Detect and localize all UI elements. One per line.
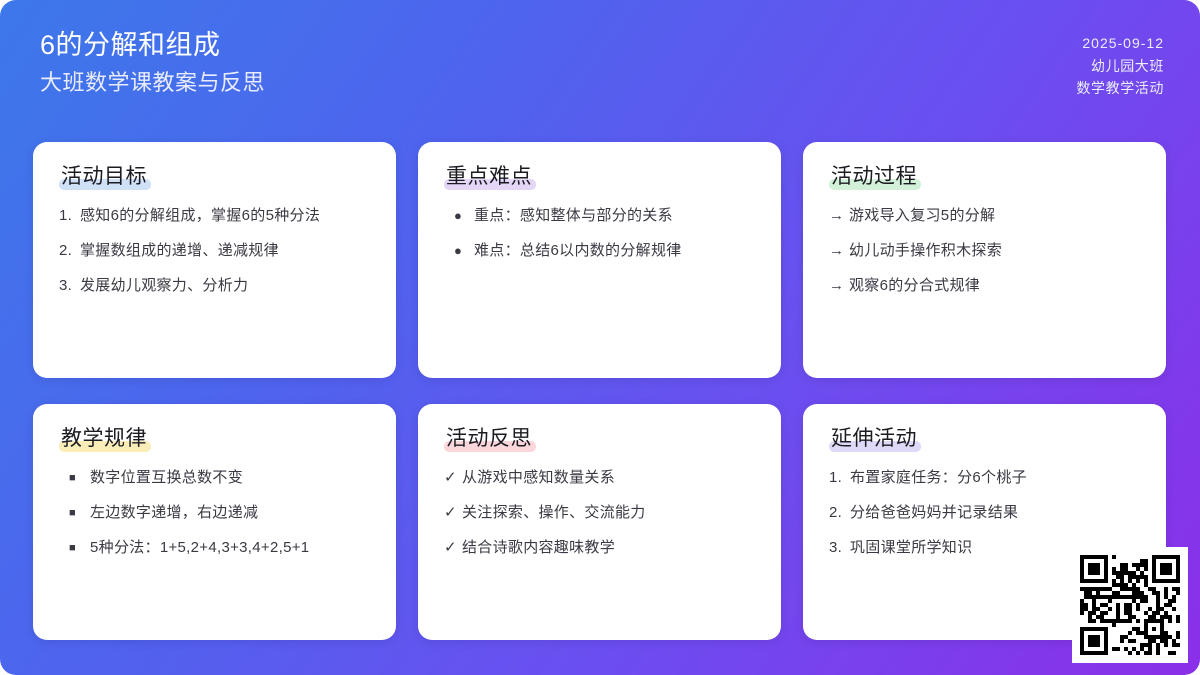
list-item: 2.掌握数组成的递增、递减规律 — [59, 240, 370, 262]
meta-date: 2025-09-12 — [1076, 32, 1164, 55]
list-marker-icon: → — [829, 240, 849, 262]
card-title-text: 延伸活动 — [831, 427, 917, 450]
list-marker-icon: ✓ — [444, 502, 462, 524]
page-title: 6的分解和组成 — [40, 28, 265, 63]
card-title: 活动过程 — [829, 164, 921, 191]
qr-code-image — [1072, 547, 1188, 663]
card-list: →游戏导入复习5的分解→幼儿动手操作积木探索→观察6的分合式规律 — [829, 205, 1140, 296]
list-marker-icon: → — [829, 205, 849, 227]
list-item-text: 分给爸爸妈妈并记录结果 — [850, 502, 1140, 524]
card-title-text: 活动反思 — [446, 427, 532, 450]
header-title-block: 6的分解和组成 大班数学课教案与反思 — [40, 28, 265, 97]
list-item-text: 布置家庭任务：分6个桃子 — [850, 467, 1140, 489]
list-item-text: 关注探索、操作、交流能力 — [462, 502, 755, 524]
card-5: 活动反思✓从游戏中感知数量关系✓关注探索、操作、交流能力✓结合诗歌内容趣味教学 — [418, 404, 781, 640]
list-item-text: 幼儿动手操作积木探索 — [849, 240, 1140, 262]
list-item-text: 从游戏中感知数量关系 — [462, 467, 755, 489]
card-2: 重点难点●重点：感知整体与部分的关系●难点：总结6以内数的分解规律 — [418, 142, 781, 378]
list-marker-icon: 3. — [829, 537, 850, 559]
list-item-text: 重点：感知整体与部分的关系 — [474, 205, 755, 227]
list-marker-icon: 2. — [59, 240, 80, 262]
card-list: ✓从游戏中感知数量关系✓关注探索、操作、交流能力✓结合诗歌内容趣味教学 — [444, 467, 755, 558]
list-item: ■数字位置互换总数不变 — [67, 467, 370, 489]
card-title: 教学规律 — [59, 426, 151, 453]
card-list: 1.感知6的分解组成，掌握6的5种分法2.掌握数组成的递增、递减规律3.发展幼儿… — [59, 205, 370, 296]
list-item-text: 感知6的分解组成，掌握6的5种分法 — [80, 205, 370, 227]
list-item: ✓从游戏中感知数量关系 — [444, 467, 755, 489]
card-4: 教学规律■数字位置互换总数不变■左边数字递增，右边递减■5种分法：1+5,2+4… — [33, 404, 396, 640]
header-meta-block: 2025-09-12 幼儿园大班 数学教学活动 — [1076, 32, 1164, 100]
list-marker-icon: ● — [452, 240, 474, 261]
list-item: 3.发展幼儿观察力、分析力 — [59, 275, 370, 297]
card-title-text: 重点难点 — [446, 165, 532, 188]
card-list: 1.布置家庭任务：分6个桃子2.分给爸爸妈妈并记录结果3.巩固课堂所学知识 — [829, 467, 1140, 558]
list-marker-icon: ✓ — [444, 537, 462, 559]
list-item: 2.分给爸爸妈妈并记录结果 — [829, 502, 1140, 524]
list-item-text: 难点：总结6以内数的分解规律 — [474, 240, 755, 262]
list-item: ●难点：总结6以内数的分解规律 — [452, 240, 755, 262]
card-title-text: 活动目标 — [61, 165, 147, 188]
list-item: 1.感知6的分解组成，掌握6的5种分法 — [59, 205, 370, 227]
list-marker-icon: ✓ — [444, 467, 462, 489]
list-item: 1.布置家庭任务：分6个桃子 — [829, 467, 1140, 489]
list-item: →幼儿动手操作积木探索 — [829, 240, 1140, 262]
list-marker-icon: ● — [452, 205, 474, 226]
list-item: →游戏导入复习5的分解 — [829, 205, 1140, 227]
list-marker-icon: 1. — [59, 205, 80, 227]
card-list: ■数字位置互换总数不变■左边数字递增，右边递减■5种分法：1+5,2+4,3+3… — [67, 467, 370, 559]
list-marker-icon: ■ — [67, 537, 90, 559]
list-item-text: 数字位置互换总数不变 — [90, 467, 370, 489]
list-marker-icon: 1. — [829, 467, 850, 489]
list-item: ✓关注探索、操作、交流能力 — [444, 502, 755, 524]
list-item-text: 5种分法：1+5,2+4,3+3,4+2,5+1 — [90, 537, 370, 559]
list-item: ✓结合诗歌内容趣味教学 — [444, 537, 755, 559]
list-marker-icon: → — [829, 275, 849, 297]
meta-audience: 幼儿园大班 — [1076, 55, 1164, 78]
list-item-text: 发展幼儿观察力、分析力 — [80, 275, 370, 297]
meta-category: 数学教学活动 — [1076, 77, 1164, 100]
list-item: ■左边数字递增，右边递减 — [67, 502, 370, 524]
card-list: ●重点：感知整体与部分的关系●难点：总结6以内数的分解规律 — [452, 205, 755, 262]
list-item-text: 左边数字递增，右边递减 — [90, 502, 370, 524]
list-item-text: 掌握数组成的递增、递减规律 — [80, 240, 370, 262]
list-item: →观察6的分合式规律 — [829, 275, 1140, 297]
list-marker-icon: 2. — [829, 502, 850, 524]
page-subtitle: 大班数学课教案与反思 — [40, 69, 265, 98]
list-marker-icon: ■ — [67, 467, 90, 489]
slide-header: 6的分解和组成 大班数学课教案与反思 2025-09-12 幼儿园大班 数学教学… — [0, 0, 1200, 142]
card-title-text: 教学规律 — [61, 427, 147, 450]
card-3: 活动过程→游戏导入复习5的分解→幼儿动手操作积木探索→观察6的分合式规律 — [803, 142, 1166, 378]
list-marker-icon: 3. — [59, 275, 80, 297]
card-title: 延伸活动 — [829, 426, 921, 453]
list-item: ■5种分法：1+5,2+4,3+3,4+2,5+1 — [67, 537, 370, 559]
list-item: ●重点：感知整体与部分的关系 — [452, 205, 755, 227]
list-item-text: 结合诗歌内容趣味教学 — [462, 537, 755, 559]
list-marker-icon: ■ — [67, 502, 90, 524]
card-title: 活动目标 — [59, 164, 151, 191]
slide-root: 6的分解和组成 大班数学课教案与反思 2025-09-12 幼儿园大班 数学教学… — [0, 0, 1200, 675]
list-item-text: 游戏导入复习5的分解 — [849, 205, 1140, 227]
card-title: 重点难点 — [444, 164, 536, 191]
qr-code[interactable] — [1072, 547, 1188, 663]
list-item-text: 观察6的分合式规律 — [849, 275, 1140, 297]
card-title-text: 活动过程 — [831, 165, 917, 188]
card-1: 活动目标1.感知6的分解组成，掌握6的5种分法2.掌握数组成的递增、递减规律3.… — [33, 142, 396, 378]
card-grid: 活动目标1.感知6的分解组成，掌握6的5种分法2.掌握数组成的递增、递减规律3.… — [33, 142, 1167, 640]
card-title: 活动反思 — [444, 426, 536, 453]
